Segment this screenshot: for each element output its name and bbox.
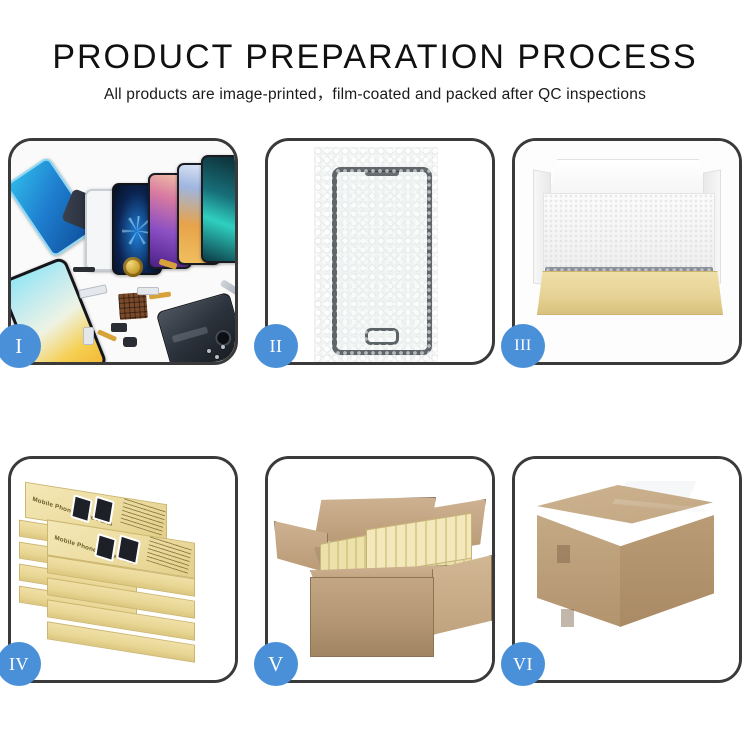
page-subtitle: All products are image-printed，film-coat… <box>0 78 750 105</box>
process-step-panel-2: II <box>265 138 495 365</box>
phone-housing-image <box>156 292 235 362</box>
screen-plate-shape <box>332 167 432 355</box>
carton-right-face <box>620 515 714 627</box>
box-spec-lines-b <box>146 536 192 574</box>
phone-parts-collage-image <box>11 141 235 362</box>
box-thumb-a1 <box>70 494 93 523</box>
step-3-photo <box>515 141 739 362</box>
open-inner-box-image <box>515 141 739 362</box>
poster-canvas: PRODUCT PREPARATION PROCESS All products… <box>0 0 750 750</box>
home-button-shape <box>365 328 399 345</box>
step-numeral-badge-6: VI <box>501 642 545 686</box>
poster-header: PRODUCT PREPARATION PROCESS All products… <box>0 0 750 105</box>
white-flex-part-b <box>83 327 94 345</box>
box-thumb-b1 <box>94 533 117 562</box>
process-step-panel-4: Mobile Phone Spare Parts Mobile Phone Sp… <box>8 456 238 683</box>
box-spec-lines-a <box>120 497 166 535</box>
small-module-part <box>111 323 127 332</box>
step-numeral-badge-3: III <box>501 324 545 368</box>
carton-front-panel <box>310 577 434 657</box>
camera-module-part <box>123 337 137 347</box>
white-flex-part-a <box>78 284 107 299</box>
chip-array-part <box>118 292 148 320</box>
process-step-panel-5: V <box>265 456 495 683</box>
stacked-boxes-image: Mobile Phone Spare Parts Mobile Phone Sp… <box>11 459 235 680</box>
step-1-photo <box>11 141 235 362</box>
bubble-wrapped-screen-image <box>314 147 438 362</box>
process-step-panel-3: III <box>512 138 742 365</box>
connector-bar-part <box>73 267 95 272</box>
step-5-photo <box>268 459 492 680</box>
carton-tab-upper <box>557 545 570 563</box>
carton-left-face <box>537 515 621 627</box>
step-numeral-badge-2: II <box>254 324 298 368</box>
step-2-photo <box>268 141 492 362</box>
white-flex-part-c <box>137 287 159 295</box>
sealed-carton-image <box>515 459 739 680</box>
open-carton-image <box>268 459 492 680</box>
step-4-photo: Mobile Phone Spare Parts Mobile Phone Sp… <box>11 459 235 680</box>
yellow-box-tray-shape <box>537 271 723 315</box>
process-step-panel-1: I <box>8 138 238 365</box>
step-6-photo <box>515 459 739 680</box>
step-numeral-badge-5: V <box>254 642 298 686</box>
process-step-grid: I II <box>8 138 742 683</box>
speaker-coil-part <box>123 257 143 277</box>
carton-tab-lower <box>561 609 574 627</box>
teal-phone-image <box>201 155 235 263</box>
process-step-panel-6: VI <box>512 456 742 683</box>
page-title: PRODUCT PREPARATION PROCESS <box>0 0 750 78</box>
